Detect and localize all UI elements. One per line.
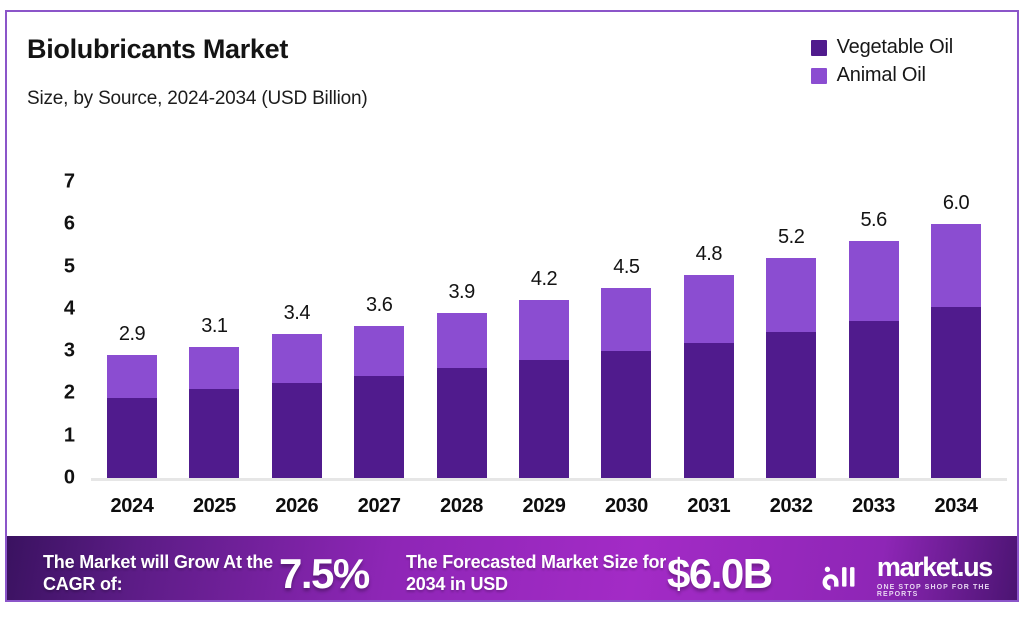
bar-value-label: 6.0 (913, 192, 999, 215)
bar-value-label: 4.5 (583, 256, 669, 279)
bar-group[interactable] (107, 355, 157, 478)
bar-segment-vegetable-oil[interactable] (601, 351, 651, 478)
cagr-caption: The Market will Grow At the CAGR of: (43, 552, 293, 596)
bar-segment-animal-oil[interactable] (107, 355, 157, 397)
bar-value-label: 4.8 (666, 243, 752, 266)
x-axis-tick-label: 2025 (171, 495, 257, 518)
bar-value-label: 2.9 (89, 323, 175, 346)
brand-name: market.us (877, 554, 1017, 581)
bar-segment-animal-oil[interactable] (519, 300, 569, 359)
bar-segment-animal-oil[interactable] (849, 241, 899, 321)
bar-segment-vegetable-oil[interactable] (931, 307, 981, 478)
y-axis-tick-label: 5 (35, 255, 75, 278)
x-axis-tick-label: 2026 (254, 495, 340, 518)
bar-chart-plot: 01234567 2.93.13.43.63.94.24.54.85.25.66… (7, 12, 1017, 530)
bar-group[interactable] (931, 224, 981, 478)
y-axis-tick-label: 0 (35, 467, 75, 490)
x-axis-tick-label: 2033 (831, 495, 917, 518)
y-axis-tick-label: 2 (35, 382, 75, 405)
bar-group[interactable] (519, 300, 569, 478)
bar-value-label: 5.6 (831, 209, 917, 232)
brand-logo[interactable]: market.us ONE STOP SHOP FOR THE REPORTS (819, 554, 1017, 598)
bar-group[interactable] (766, 258, 816, 478)
bar-segment-animal-oil[interactable] (437, 313, 487, 368)
bar-segment-vegetable-oil[interactable] (684, 343, 734, 478)
bar-value-label: 3.1 (171, 315, 257, 338)
forecast-caption: The Forecasted Market Size for 2034 in U… (406, 552, 668, 596)
y-axis-tick-label: 1 (35, 424, 75, 447)
bar-segment-vegetable-oil[interactable] (354, 376, 404, 478)
bar-group[interactable] (272, 334, 322, 478)
x-axis-tick-label: 2031 (666, 495, 752, 518)
y-axis-tick-label: 3 (35, 340, 75, 363)
bar-segment-vegetable-oil[interactable] (107, 398, 157, 478)
x-axis-tick-label: 2028 (419, 495, 505, 518)
bar-segment-vegetable-oil[interactable] (849, 321, 899, 478)
bar-value-label: 3.9 (419, 281, 505, 304)
bar-segment-animal-oil[interactable] (684, 275, 734, 343)
x-axis-line (91, 478, 1007, 481)
x-axis-tick-label: 2027 (336, 495, 422, 518)
y-axis-tick-label: 4 (35, 297, 75, 320)
bar-segment-vegetable-oil[interactable] (766, 332, 816, 478)
bar-group[interactable] (849, 241, 899, 478)
bar-group[interactable] (684, 275, 734, 478)
bar-segment-animal-oil[interactable] (272, 334, 322, 383)
x-axis-tick-label: 2032 (748, 495, 834, 518)
y-axis-tick-label: 6 (35, 213, 75, 236)
x-axis-tick-label: 2030 (583, 495, 669, 518)
bar-group[interactable] (189, 347, 239, 478)
bar-segment-vegetable-oil[interactable] (519, 360, 569, 478)
x-axis-tick-label: 2029 (501, 495, 587, 518)
cagr-value: 7.5% (279, 550, 369, 598)
bar-value-label: 5.2 (748, 226, 834, 249)
bar-segment-animal-oil[interactable] (931, 224, 981, 306)
x-axis-tick-label: 2024 (89, 495, 175, 518)
bar-segment-animal-oil[interactable] (189, 347, 239, 389)
bar-segment-animal-oil[interactable] (354, 326, 404, 377)
y-axis-tick-label: 7 (35, 170, 75, 193)
infographic-card: Biolubricants Market Size, by Source, 20… (5, 10, 1019, 602)
bar-value-label: 4.2 (501, 268, 587, 291)
bar-segment-vegetable-oil[interactable] (272, 383, 322, 478)
bar-segment-animal-oil[interactable] (766, 258, 816, 332)
bar-group[interactable] (354, 326, 404, 478)
footer-banner: The Market will Grow At the CAGR of: 7.5… (7, 536, 1017, 602)
bar-segment-vegetable-oil[interactable] (437, 368, 487, 478)
bar-value-label: 3.4 (254, 302, 340, 325)
forecast-value: $6.0B (667, 550, 772, 598)
bar-segment-vegetable-oil[interactable] (189, 389, 239, 478)
brand-tagline: ONE STOP SHOP FOR THE REPORTS (877, 584, 1017, 598)
bar-group[interactable] (601, 288, 651, 478)
bar-group[interactable] (437, 313, 487, 478)
x-axis-tick-label: 2034 (913, 495, 999, 518)
bar-value-label: 3.6 (336, 294, 422, 317)
market-us-logo-icon (819, 561, 867, 591)
bar-segment-animal-oil[interactable] (601, 288, 651, 351)
